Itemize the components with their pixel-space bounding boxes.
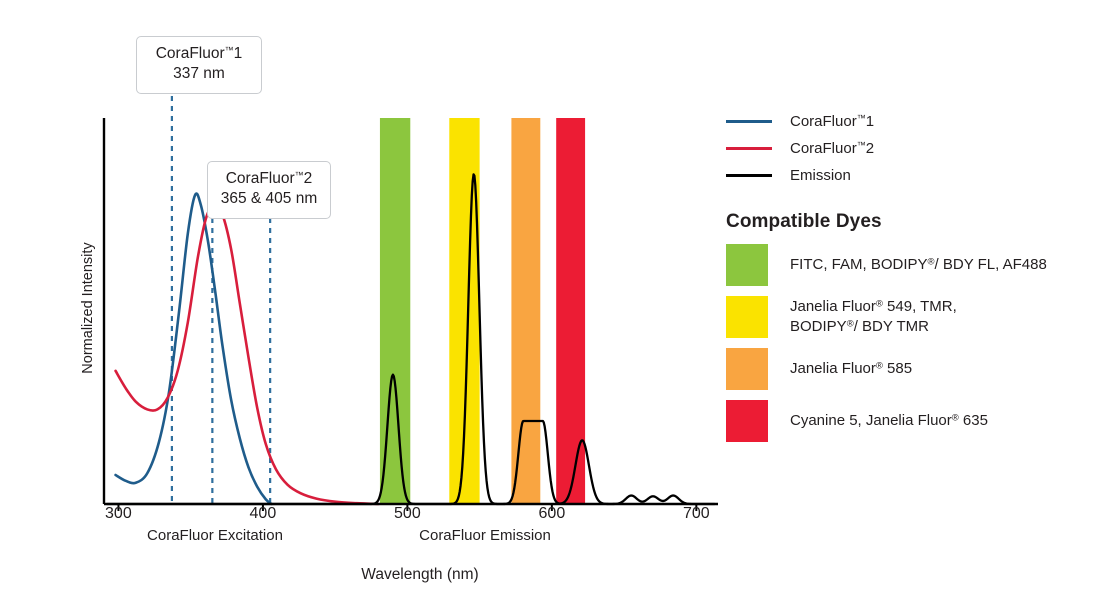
callout-corafluor2-line1: CoraFluor™2: [220, 169, 318, 189]
legend-line-swatch-corafluor2: [726, 147, 772, 150]
legend-line-swatch-emission: [726, 174, 772, 177]
x-tick-label-500: 500: [377, 505, 437, 523]
dye-color-swatch-red: [726, 400, 768, 442]
emission-band-3: [556, 118, 585, 504]
y-axis-title: Normalized Intensity: [80, 208, 96, 408]
emission-band-0: [380, 118, 410, 504]
dye-color-swatch-yellow: [726, 296, 768, 338]
callout-corafluor1: CoraFluor™1 337 nm: [136, 36, 262, 94]
dye-color-swatch-green: [726, 244, 768, 286]
legend-series-corafluor1: CoraFluor™1: [726, 108, 1096, 135]
x-tick-label-600: 600: [522, 505, 582, 523]
x-tick-label-300: 300: [88, 505, 148, 523]
x-tick-label-700: 700: [666, 505, 726, 523]
fluorescence-spectra-figure: CoraFluor™1 337 nm CoraFluor™2 365 & 405…: [0, 0, 1110, 612]
trademark-icon: ™: [857, 140, 866, 150]
legend-series-label-corafluor1: CoraFluor™1: [790, 113, 874, 130]
x-axis-title: Wavelength (nm): [260, 566, 580, 584]
dye-row-yellow: Janelia Fluor® 549, TMR, BODIPY®/ BDY TM…: [726, 291, 1096, 343]
dye-row-green: FITC, FAM, BODIPY®/ BDY FL, AF488: [726, 239, 1096, 291]
registered-icon: ®: [928, 256, 935, 267]
trademark-icon: ™: [295, 170, 304, 180]
registered-icon: ®: [847, 318, 854, 329]
legend-panel: CoraFluor™1 CoraFluor™2 Emission Compati…: [726, 108, 1096, 447]
dye-row-orange: Janelia Fluor® 585: [726, 343, 1096, 395]
emission-band-2: [511, 118, 540, 504]
emission-curve: [107, 174, 715, 504]
registered-icon: ®: [876, 360, 883, 371]
legend-series-label-corafluor2: CoraFluor™2: [790, 140, 874, 157]
compatible-dyes-heading: Compatible Dyes: [726, 211, 1096, 233]
legend-series-emission: Emission: [726, 162, 1096, 189]
callout-corafluor2-line2: 365 & 405 nm: [220, 189, 318, 209]
dye-label-red: Cyanine 5, Janelia Fluor® 635: [790, 411, 988, 431]
x-tick-label-400: 400: [233, 505, 293, 523]
legend-line-swatch-corafluor1: [726, 120, 772, 123]
registered-icon: ®: [952, 412, 959, 423]
emission-region-label: CoraFluor Emission: [340, 527, 630, 544]
dye-label-yellow: Janelia Fluor® 549, TMR, BODIPY®/ BDY TM…: [790, 297, 957, 338]
callout-corafluor1-line1: CoraFluor™1: [149, 44, 249, 64]
dye-label-green: FITC, FAM, BODIPY®/ BDY FL, AF488: [790, 255, 1047, 275]
dye-row-red: Cyanine 5, Janelia Fluor® 635: [726, 395, 1096, 447]
legend-series-label-emission: Emission: [790, 167, 851, 184]
dye-color-swatch-orange: [726, 348, 768, 390]
dye-label-orange: Janelia Fluor® 585: [790, 359, 912, 379]
trademark-icon: ™: [225, 45, 234, 55]
legend-series-corafluor2: CoraFluor™2: [726, 135, 1096, 162]
excitation-region-label: CoraFluor Excitation: [70, 527, 360, 544]
registered-icon: ®: [876, 298, 883, 309]
callout-corafluor1-line2: 337 nm: [149, 64, 249, 84]
trademark-icon: ™: [857, 113, 866, 123]
callout-corafluor2: CoraFluor™2 365 & 405 nm: [207, 161, 331, 219]
